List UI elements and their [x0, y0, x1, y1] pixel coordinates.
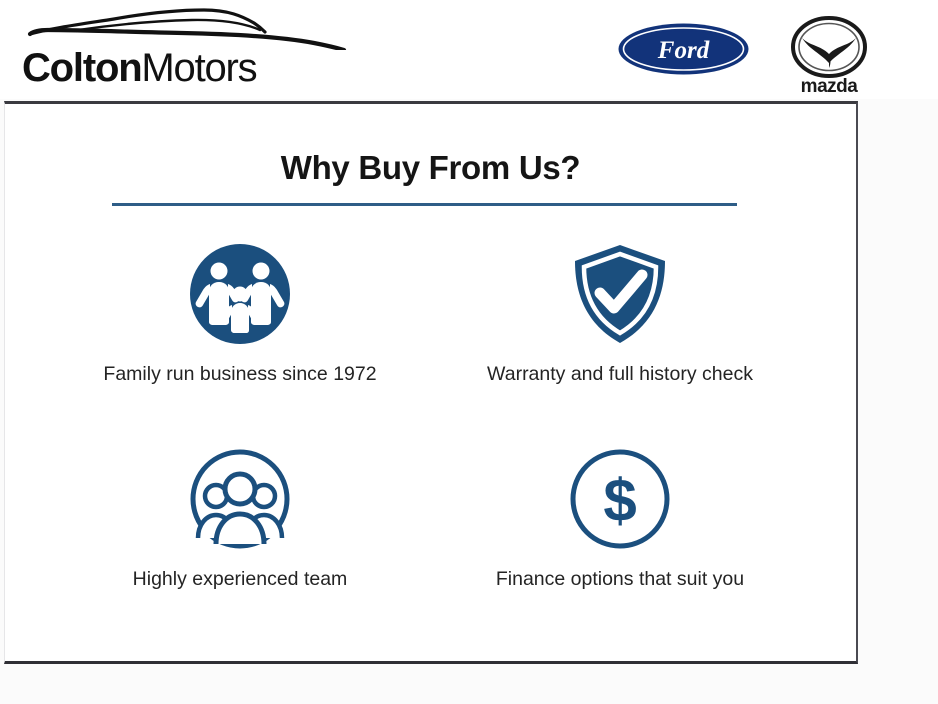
feature-label-team-line2: team — [304, 568, 347, 590]
feature-label-finance: Finance options that suit you — [480, 563, 760, 596]
svg-text:$: $ — [603, 467, 636, 534]
page-title: Why Buy From Us? — [5, 149, 856, 187]
why-buy-from-us-card: Why Buy From Us? — [4, 101, 858, 664]
feature-item-team: Highly experienced team — [65, 439, 415, 644]
family-icon — [188, 242, 292, 346]
colton-motors-logo[interactable]: ColtonMotors — [22, 6, 352, 94]
feature-label-team: Highly experienced team — [100, 563, 380, 596]
ford-wordmark: Ford — [657, 37, 710, 64]
feature-item-warranty: Warranty and full history check — [445, 234, 795, 439]
feature-label-family: Family run business since 1972 — [100, 358, 380, 391]
feature-label-warranty-line2: check — [702, 363, 753, 385]
feature-label-family-line1: Family run business since — [103, 363, 327, 385]
mazda-logo[interactable]: mazda — [780, 14, 878, 96]
feature-item-family: Family run business since 1972 — [65, 234, 415, 439]
feature-label-warranty: Warranty and full history check — [480, 358, 760, 391]
feature-label-family-line2: 1972 — [333, 363, 376, 385]
team-group-icon — [188, 447, 292, 551]
feature-label-team-line1: Highly experienced — [133, 568, 299, 590]
feature-item-finance: $ Finance options that suit you — [445, 439, 795, 644]
shield-check-icon — [568, 242, 672, 346]
feature-label-warranty-line1: Warranty and full history — [487, 363, 697, 385]
title-divider — [112, 203, 737, 206]
brand-name-light: Motors — [141, 46, 256, 90]
slide-page: ColtonMotors Ford mazda Why Buy From Us? — [0, 0, 938, 704]
feature-grid: Family run business since 1972 Warranty … — [65, 234, 795, 644]
feature-label-finance-line2: you — [713, 568, 744, 590]
dollar-circle-icon: $ — [568, 447, 672, 551]
feature-label-finance-line1: Finance options that suit — [496, 568, 707, 590]
brand-wordmark: ColtonMotors — [22, 42, 352, 94]
page-header: ColtonMotors Ford mazda — [0, 0, 938, 99]
brand-name-bold: Colton — [22, 46, 141, 90]
ford-logo[interactable]: Ford — [617, 22, 750, 76]
mazda-wordmark: mazda — [801, 76, 859, 96]
